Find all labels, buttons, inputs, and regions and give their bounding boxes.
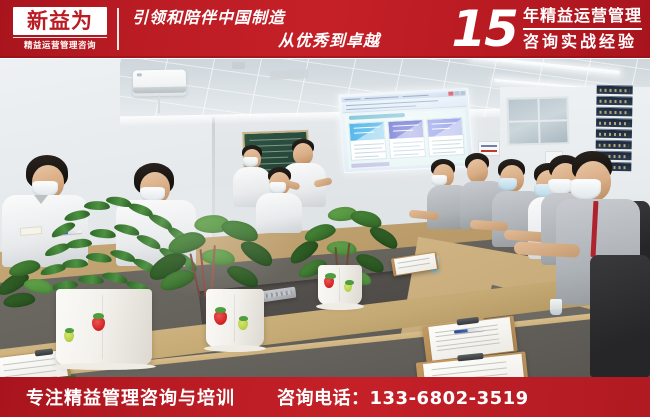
projection-screen bbox=[338, 88, 474, 174]
slide-title-text bbox=[402, 95, 428, 98]
pot-seam bbox=[234, 294, 235, 343]
strawberry-decal-icon bbox=[214, 311, 227, 325]
years-text-block: 年精益运营管理 咨询实战经验 bbox=[523, 5, 642, 53]
leaf bbox=[85, 251, 112, 264]
face-mask bbox=[243, 157, 258, 167]
card-body-line bbox=[432, 147, 463, 150]
experience-years-block: 15 年精益运营管理 咨询实战经验 bbox=[451, 2, 642, 56]
card-title-line bbox=[354, 126, 380, 129]
card-body-line bbox=[393, 141, 423, 144]
air-conditioner-icon bbox=[133, 70, 186, 97]
card-body-line bbox=[394, 153, 419, 155]
projector-mount-icon bbox=[232, 62, 245, 69]
slide-title-text bbox=[364, 96, 398, 99]
card-title-line bbox=[432, 128, 450, 130]
card-title-line bbox=[393, 130, 413, 132]
slide-card-3-header bbox=[427, 118, 462, 137]
water-cup bbox=[550, 299, 562, 315]
card-body-line bbox=[433, 155, 463, 157]
leaf bbox=[7, 258, 41, 278]
slide-card-2-header bbox=[388, 120, 423, 139]
years-line-1: 年精益运营管理 bbox=[523, 5, 642, 30]
leaf bbox=[101, 270, 128, 286]
planter-pot-1 bbox=[56, 289, 152, 365]
logo-mark-text: 新益为 bbox=[13, 7, 107, 35]
certificate-plaque bbox=[596, 118, 632, 128]
certificate-plaque bbox=[596, 107, 632, 117]
card-title-line bbox=[432, 122, 456, 125]
footer-phone: 咨询电话：133-6802-3519 bbox=[277, 384, 529, 410]
green-berry-decal-icon bbox=[238, 319, 248, 330]
slogan-line-2: 从优秀到卓越 bbox=[128, 29, 398, 52]
green-berry-decal-icon bbox=[344, 283, 352, 292]
card-title-line bbox=[354, 132, 374, 134]
head bbox=[467, 159, 488, 183]
slogan-block: 引领和陪伴中国制造 从优秀到卓越 bbox=[128, 6, 398, 54]
leaf bbox=[63, 209, 90, 222]
certificate-plaque bbox=[597, 85, 633, 95]
card-body-line bbox=[354, 143, 384, 146]
leaf bbox=[237, 236, 276, 271]
logo-divider bbox=[117, 8, 119, 50]
card-body-line bbox=[394, 157, 423, 159]
leaf bbox=[78, 274, 105, 286]
leaf bbox=[224, 261, 261, 292]
card-body-line bbox=[355, 155, 379, 157]
face-mask bbox=[570, 179, 601, 200]
card-title-line bbox=[393, 124, 419, 127]
leaf bbox=[62, 259, 88, 268]
slide-card-1 bbox=[348, 121, 387, 161]
card-body-line bbox=[354, 147, 382, 150]
form-line bbox=[398, 263, 429, 269]
wall-sign-line bbox=[481, 150, 497, 152]
card-body-line bbox=[393, 145, 420, 148]
ribbon-line bbox=[346, 105, 416, 110]
window bbox=[506, 96, 569, 146]
slide-card-3 bbox=[426, 117, 465, 157]
training-scene-photo bbox=[0, 59, 650, 377]
form-line bbox=[5, 370, 57, 377]
minimize-icon bbox=[454, 91, 459, 95]
air-conditioner-pipe bbox=[158, 95, 160, 113]
slide-footer-bar bbox=[351, 162, 389, 168]
leaf bbox=[66, 238, 93, 249]
bottom-banner: 专注精益管理咨询与培训 咨询电话：133-6802-3519 bbox=[0, 377, 650, 417]
leaf bbox=[3, 291, 36, 308]
slide-title-text bbox=[345, 98, 361, 100]
slide-card-1-header bbox=[349, 122, 384, 141]
promotional-banner-image: 新益为 精益运营管理咨询 引领和陪伴中国制造 从优秀到卓越 15 年精益运营管理… bbox=[0, 0, 650, 417]
slide-card-2 bbox=[387, 119, 426, 159]
leaf bbox=[49, 220, 76, 239]
strawberry-decal-icon bbox=[324, 277, 334, 288]
card-body-line bbox=[433, 151, 456, 153]
face-mask bbox=[498, 178, 517, 191]
planter-pot-3 bbox=[318, 265, 362, 305]
leaf bbox=[326, 240, 357, 257]
years-number: 15 bbox=[451, 4, 523, 54]
footer-slogan: 专注精益管理咨询与培训 bbox=[26, 384, 235, 410]
green-berry-decal-icon bbox=[64, 331, 74, 342]
head bbox=[293, 143, 313, 165]
card-body-line bbox=[355, 159, 384, 161]
slogan-line-1: 引领和陪伴中国制造 bbox=[128, 6, 398, 29]
certificate-plaque bbox=[596, 140, 632, 150]
slide-cards bbox=[348, 117, 465, 161]
card-body-line bbox=[432, 139, 462, 142]
maximize-icon bbox=[460, 91, 465, 95]
leaf bbox=[367, 222, 401, 252]
top-banner: 新益为 精益运营管理咨询 引领和陪伴中国制造 从优秀到卓越 15 年精益运营管理… bbox=[0, 0, 650, 58]
office-chair bbox=[590, 255, 650, 377]
wall-sign-line bbox=[481, 145, 497, 147]
card-body-line bbox=[432, 143, 460, 146]
logo-tagline: 精益运营管理咨询 bbox=[13, 37, 107, 51]
slide-heading-bar bbox=[349, 113, 405, 120]
certificate-plaque bbox=[596, 96, 632, 106]
foliage-edge-left bbox=[0, 255, 60, 315]
company-logo[interactable]: 新益为 精益运营管理咨询 bbox=[12, 5, 108, 53]
pot-seam bbox=[339, 268, 340, 302]
tropical-plant-center bbox=[150, 209, 280, 299]
card-body-line bbox=[354, 151, 385, 154]
years-line-2: 咨询实战经验 bbox=[523, 30, 642, 53]
leaf bbox=[90, 227, 117, 240]
card-body-line bbox=[393, 149, 424, 152]
certificate-plaque bbox=[596, 129, 632, 139]
close-icon bbox=[448, 91, 453, 95]
planter-pot-2 bbox=[206, 289, 264, 347]
